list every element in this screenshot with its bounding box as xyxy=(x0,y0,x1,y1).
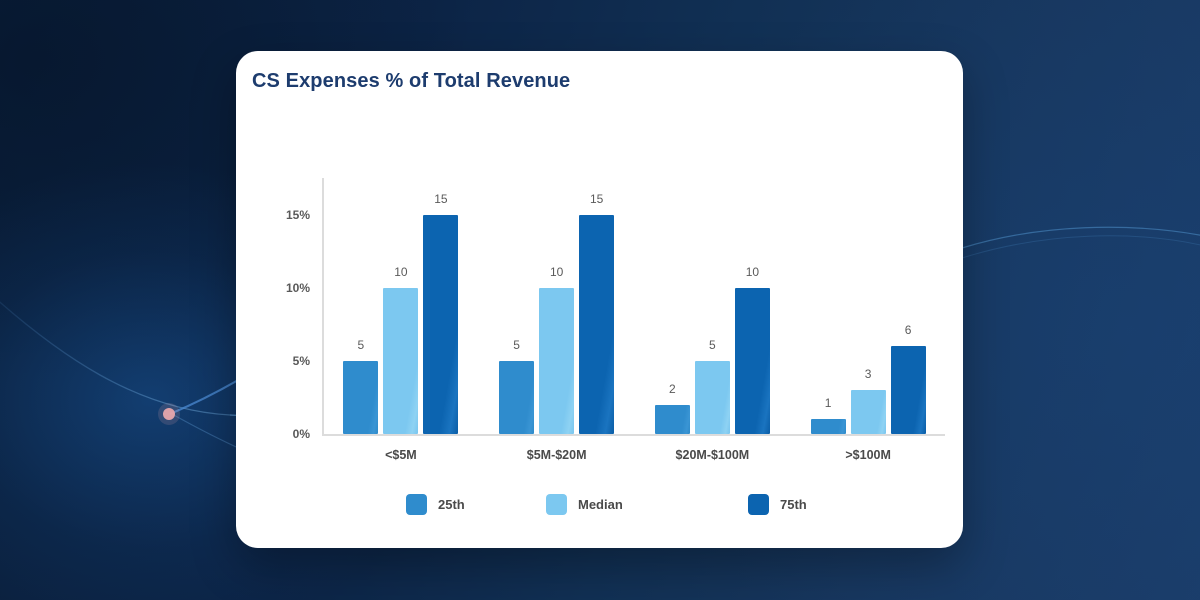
bar-value-label: 10 xyxy=(383,265,418,279)
bar-25th-<$5M[interactable]: 5 xyxy=(343,178,378,434)
y-axis-tick-label: 5% xyxy=(293,354,310,368)
y-axis-tick-label: 10% xyxy=(286,281,310,295)
bar-value-label: 5 xyxy=(695,338,730,352)
bar-value-label: 15 xyxy=(423,192,458,206)
bar-value-label: 1 xyxy=(811,396,846,410)
y-axis-line xyxy=(322,178,324,434)
bar-rect[interactable] xyxy=(695,361,730,434)
bar-75th->$100M[interactable]: 6 xyxy=(891,178,926,434)
x-axis-label-3: $20M-$100M xyxy=(676,448,750,462)
bar-value-label: 15 xyxy=(579,192,614,206)
legend-item-median[interactable]: Median xyxy=(546,492,623,516)
bar-value-label: 6 xyxy=(891,323,926,337)
x-axis-label-4: >$100M xyxy=(845,448,891,462)
bar-rect[interactable] xyxy=(539,288,574,434)
chart-legend: 25thMedian75th xyxy=(236,492,963,520)
chart-plot-area: 0%5%10%15% 51015510152510136 xyxy=(322,178,945,434)
x-axis-label-2: $5M-$20M xyxy=(527,448,587,462)
legend-item-25th[interactable]: 25th xyxy=(406,492,465,516)
y-axis-tick-label: 15% xyxy=(286,208,310,222)
bar-value-label: 2 xyxy=(655,382,690,396)
bar-value-label: 10 xyxy=(735,265,770,279)
bar-median-<$5M[interactable]: 10 xyxy=(383,178,418,434)
bar-median-$20M-$100M[interactable]: 5 xyxy=(695,178,730,434)
legend-label: Median xyxy=(578,497,623,512)
bar-rect[interactable] xyxy=(655,405,690,434)
bar-75th-<$5M[interactable]: 15 xyxy=(423,178,458,434)
bar-rect[interactable] xyxy=(423,215,458,434)
legend-swatch-icon xyxy=(748,494,769,515)
bar-rect[interactable] xyxy=(851,390,886,434)
bar-median->$100M[interactable]: 3 xyxy=(851,178,886,434)
bar-rect[interactable] xyxy=(343,361,378,434)
bar-median-$5M-$20M[interactable]: 10 xyxy=(539,178,574,434)
bar-rect[interactable] xyxy=(579,215,614,434)
bar-group: 2510 xyxy=(655,178,770,434)
bar-75th-$5M-$20M[interactable]: 15 xyxy=(579,178,614,434)
legend-swatch-icon xyxy=(406,494,427,515)
bar-25th-$20M-$100M[interactable]: 2 xyxy=(655,178,690,434)
bar-group: 136 xyxy=(811,178,926,434)
bar-value-label: 5 xyxy=(499,338,534,352)
bar-rect[interactable] xyxy=(811,419,846,434)
y-axis-tick-label: 0% xyxy=(293,427,310,441)
bar-value-label: 5 xyxy=(343,338,378,352)
bar-25th->$100M[interactable]: 1 xyxy=(811,178,846,434)
page-title: CS Expenses % of Total Revenue xyxy=(252,70,570,93)
legend-label: 25th xyxy=(438,497,465,512)
legend-item-75th[interactable]: 75th xyxy=(748,492,807,516)
bar-25th-$5M-$20M[interactable]: 5 xyxy=(499,178,534,434)
bar-value-label: 3 xyxy=(851,367,886,381)
bar-group: 51015 xyxy=(343,178,458,434)
bar-rect[interactable] xyxy=(735,288,770,434)
bar-rect[interactable] xyxy=(499,361,534,434)
x-axis-label-1: <$5M xyxy=(385,448,417,462)
x-axis-line xyxy=(322,434,945,436)
legend-swatch-icon xyxy=(546,494,567,515)
bar-value-label: 10 xyxy=(539,265,574,279)
bar-rect[interactable] xyxy=(891,346,926,434)
bar-rect[interactable] xyxy=(383,288,418,434)
legend-label: 75th xyxy=(780,497,807,512)
bar-group: 51015 xyxy=(499,178,614,434)
bar-75th-$20M-$100M[interactable]: 10 xyxy=(735,178,770,434)
